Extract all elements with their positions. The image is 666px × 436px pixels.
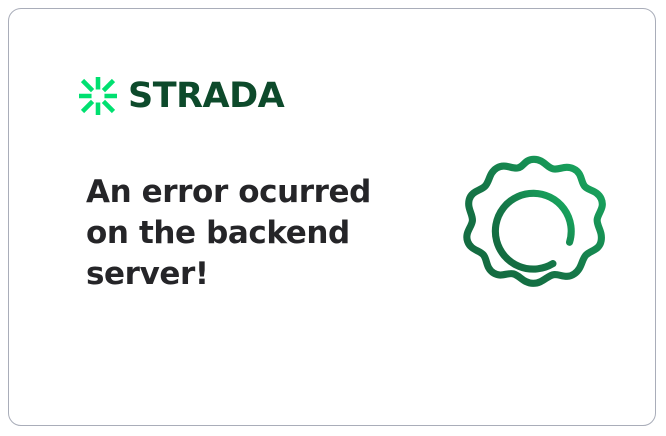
error-card: STRADA An error ocurred on the backend s…: [8, 8, 656, 426]
brand-lockup: STRADA: [79, 77, 284, 115]
brand-wordmark: STRADA: [128, 79, 284, 114]
strada-asterisk-icon: [79, 77, 117, 115]
error-headline: An error ocurred on the backend server!: [86, 172, 376, 295]
gear-icon: [455, 153, 613, 311]
